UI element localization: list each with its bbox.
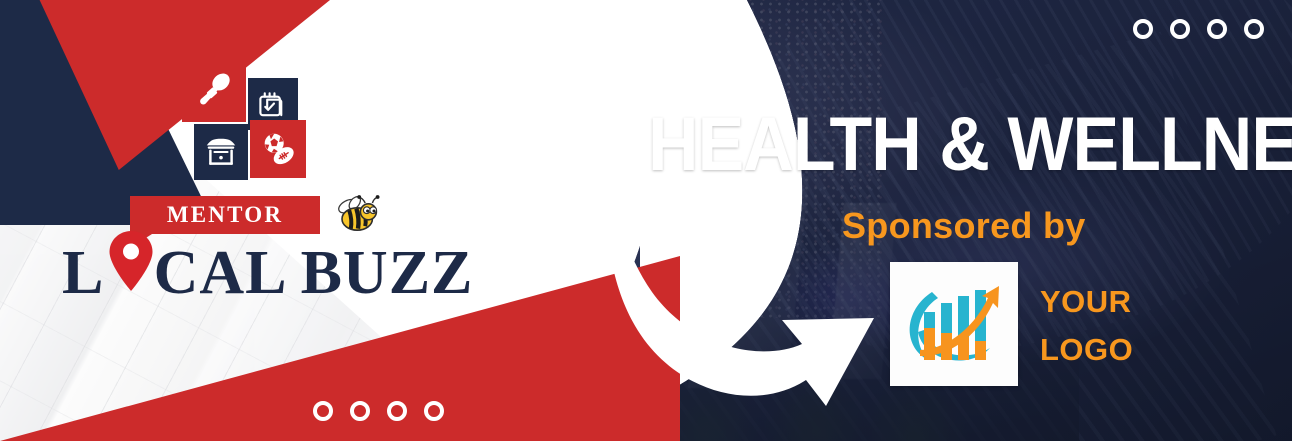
decorative-dot bbox=[1244, 19, 1264, 39]
event-sponsorship-banner: MENTOR bbox=[0, 0, 1292, 441]
microphone-icon bbox=[194, 70, 234, 110]
calendar-check-icon bbox=[257, 88, 290, 121]
mentor-label: MENTOR bbox=[167, 202, 283, 228]
map-pin-icon bbox=[108, 230, 154, 292]
sponsored-by-label: Sponsored by bbox=[842, 205, 1086, 247]
growth-chart-logo-icon bbox=[898, 270, 1010, 378]
mentor-local-buzz-logo: MENTOR bbox=[62, 58, 482, 304]
dot-row-bottom bbox=[313, 401, 444, 421]
dot-row-top bbox=[1133, 19, 1264, 39]
sponsor-logo-text: YOUR LOGO bbox=[1040, 278, 1133, 374]
local-buzz-suffix: CAL BUZZ bbox=[154, 239, 474, 307]
microphone-tile bbox=[182, 58, 246, 122]
decorative-dot bbox=[1170, 19, 1190, 39]
storefront-icon bbox=[203, 134, 239, 170]
local-buzz-wordmark: LOCAL BUZZ bbox=[62, 242, 482, 304]
sponsor-logo-line-2: LOGO bbox=[1040, 326, 1133, 374]
curved-arrow-icon bbox=[606, 148, 916, 438]
sponsor-logo-line-1: YOUR bbox=[1040, 278, 1133, 326]
sports-tile bbox=[250, 120, 306, 178]
decorative-dot bbox=[313, 401, 333, 421]
sports-balls-icon bbox=[259, 130, 297, 168]
page-title: HEALTH & WELLNESS bbox=[648, 110, 1292, 180]
decorative-dot bbox=[1207, 19, 1227, 39]
decorative-dot bbox=[387, 401, 407, 421]
decorative-dot bbox=[1133, 19, 1153, 39]
bee-icon bbox=[334, 194, 382, 236]
sponsor-logo-placeholder[interactable] bbox=[890, 262, 1018, 386]
decorative-dot bbox=[424, 401, 444, 421]
mentor-ribbon-body: MENTOR bbox=[130, 196, 320, 234]
storefront-tile bbox=[194, 124, 248, 180]
logo-icon-tiles bbox=[182, 58, 314, 180]
local-buzz-prefix: L bbox=[62, 239, 104, 307]
decorative-dot bbox=[350, 401, 370, 421]
